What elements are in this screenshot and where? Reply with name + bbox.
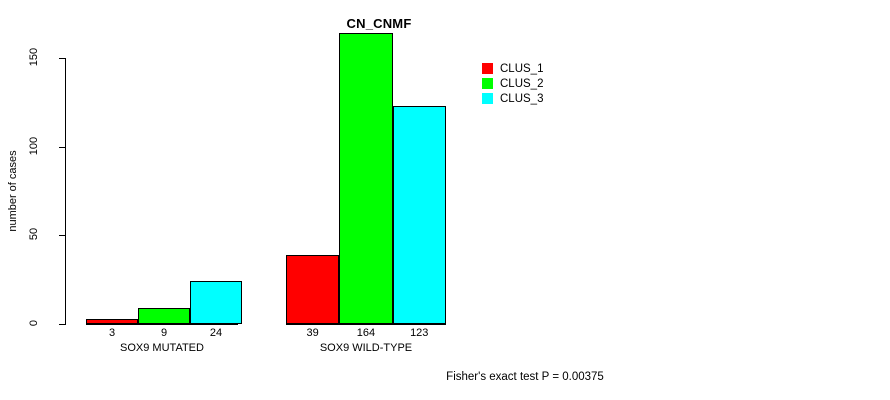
y-tick-label: 150 (28, 37, 40, 77)
y-tick-label: 100 (28, 126, 40, 166)
footer-annotation: Fisher's exact test P = 0.00375 (80, 371, 890, 383)
y-tick-mark (59, 147, 66, 148)
bar-clus-2-group-1 (138, 308, 190, 324)
x-axis-line-group-2 (286, 324, 446, 325)
bar-value-label: 123 (393, 327, 446, 339)
bar-value-label: 39 (286, 327, 339, 339)
group-label-sox9-mutated: SOX9 MUTATED (82, 342, 242, 354)
legend-label-clus-1: CLUS_1 (500, 63, 543, 75)
legend-item-clus-2: CLUS_2 (482, 76, 543, 91)
legend-swatch-icon-clus-2 (482, 78, 493, 89)
bar-value-label: 9 (138, 327, 190, 339)
bar-clus-3-group-1 (190, 281, 242, 324)
legend-label-clus-2: CLUS_2 (500, 78, 543, 90)
legend: CLUS_1 CLUS_2 CLUS_3 (482, 61, 543, 106)
bar-clus-3-group-2 (393, 106, 446, 324)
bar-value-label: 3 (86, 327, 138, 339)
x-axis-line-group-1 (86, 324, 238, 325)
bar-series-layer (0, 0, 890, 324)
bar-clus-2-group-2 (339, 33, 392, 324)
legend-swatch-icon-clus-1 (482, 63, 493, 74)
bar-value-label: 24 (190, 327, 242, 339)
bar-value-label: 164 (339, 327, 392, 339)
y-tick-label: 50 (28, 214, 40, 254)
legend-swatch-icon-clus-3 (482, 93, 493, 104)
y-tick-mark (59, 58, 66, 59)
legend-item-clus-3: CLUS_3 (482, 91, 543, 106)
group-label-sox9-wild-type: SOX9 WILD-TYPE (286, 342, 446, 354)
legend-label-clus-3: CLUS_3 (500, 93, 543, 105)
y-tick-mark (59, 324, 66, 325)
bar-clus-1-group-1 (86, 319, 138, 324)
legend-item-clus-1: CLUS_1 (482, 61, 543, 76)
bar-clus-1-group-2 (286, 255, 339, 324)
y-tick-mark (59, 235, 66, 236)
chart-canvas: CN_CNMF number of cases 050100150 392439… (0, 0, 890, 400)
y-tick-label: 0 (28, 303, 40, 343)
